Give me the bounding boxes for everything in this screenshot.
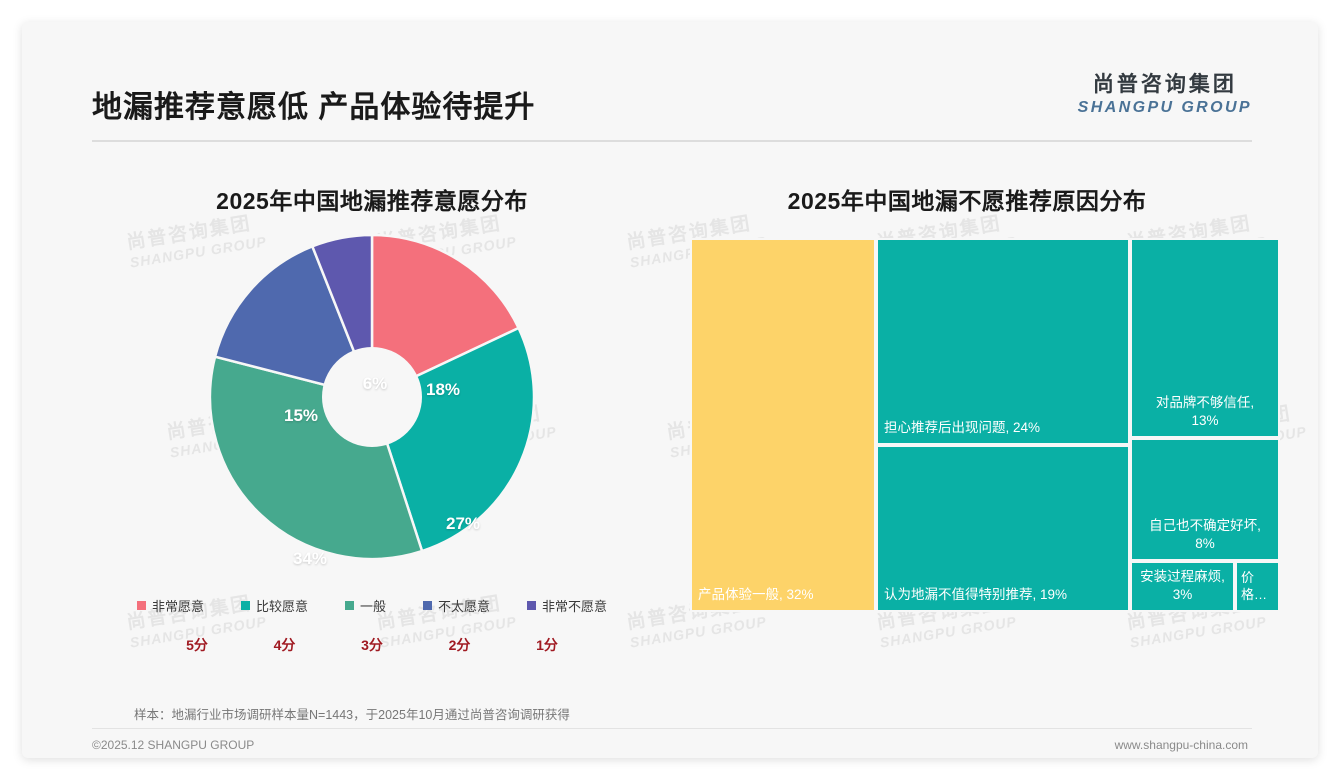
donut-chart: 18%27%34%15%6% [92,232,652,592]
legend-swatch [241,601,250,610]
logo-chinese: 尚普咨询集团 [1078,68,1252,98]
legend-swatch [137,601,146,610]
logo-english: SHANGPU GROUP [1078,99,1252,117]
treemap-cell[interactable]: 价格… [1235,561,1280,612]
treemap-cell-label: 价格… [1241,569,1275,604]
score-label: 5分 [167,635,227,655]
donut-center-hole [322,347,422,447]
legend-label: 非常愿意 [152,596,204,615]
treemap-chart-title: 2025年中国地漏不愿推荐原因分布 [682,182,1252,216]
legend-swatch [527,601,536,610]
treemap-cell[interactable]: 认为地漏不值得特别推荐, 19% [876,445,1130,612]
treemap-chart: 产品体验一般, 32%担心推荐后出现问题, 24%认为地漏不值得特别推荐, 19… [690,238,1280,612]
slide-header: 地漏推荐意愿低 产品体验待提升 尚普咨询集团 SHANGPU GROUP [92,60,1252,142]
legend-item[interactable]: 比较愿意 [241,596,308,615]
legend-label: 不太愿意 [438,596,490,615]
donut-chart-title: 2025年中国地漏推荐意愿分布 [92,182,652,216]
score-label: 4分 [255,635,315,655]
legend-label: 非常不愿意 [542,596,607,615]
legend-swatch [423,601,432,610]
legend-item[interactable]: 一般 [345,596,386,615]
footer-divider [92,728,1252,729]
donut-slice-value: 15% [284,406,318,426]
treemap-cell-label: 产品体验一般, 32% [698,586,870,604]
score-label-row: 5分4分3分2分1分 [167,635,577,655]
legend-swatch [345,601,354,610]
slide-canvas: 尚普咨询集团SHANGPU GROUP尚普咨询集团SHANGPU GROUP尚普… [22,22,1318,758]
treemap-chart-panel: 2025年中国地漏不愿推荐原因分布 产品体验一般, 32%担心推荐后出现问题, … [682,182,1252,612]
treemap-cell[interactable]: 自己也不确定好坏,8% [1130,438,1280,561]
treemap-cell[interactable]: 担心推荐后出现问题, 24% [876,238,1130,445]
footer-copyright: ©2025.12 SHANGPU GROUP [92,738,254,752]
treemap-cell-label: 认为地漏不值得特别推荐, 19% [884,586,1124,604]
donut-chart-panel: 2025年中国地漏推荐意愿分布 18%27%34%15%6% 非常愿意比较愿意一… [92,182,652,655]
sample-footnote: 样本：地漏行业市场调研样本量N=1443，于2025年10月通过尚普咨询调研获得 [134,704,570,723]
score-label: 2分 [430,635,490,655]
score-label: 1分 [517,635,577,655]
donut-slice-value: 6% [363,374,388,394]
brand-logo: 尚普咨询集团 SHANGPU GROUP [1078,68,1252,117]
treemap-cell-label: 自己也不确定好坏,8% [1136,517,1274,553]
legend-label: 一般 [360,596,386,615]
footer-website: www.shangpu-china.com [1115,738,1248,752]
score-label: 3分 [342,635,402,655]
legend-item[interactable]: 非常不愿意 [527,596,607,615]
treemap-cell[interactable]: 产品体验一般, 32% [690,238,876,612]
donut-slice-value: 27% [446,514,480,534]
page-title: 地漏推荐意愿低 产品体验待提升 [92,82,535,126]
donut-legend: 非常愿意比较愿意一般不太愿意非常不愿意 [137,596,607,615]
legend-item[interactable]: 非常愿意 [137,596,204,615]
donut-slice-value: 34% [293,549,327,569]
legend-label: 比较愿意 [256,596,308,615]
donut-svg [207,232,537,562]
treemap-cell-label: 对品牌不够信任,13% [1136,394,1274,430]
treemap-cell-label: 担心推荐后出现问题, 24% [884,419,1124,437]
treemap-cell-label: 安装过程麻烦,3% [1136,568,1229,604]
treemap-cell[interactable]: 对品牌不够信任,13% [1130,238,1280,438]
donut-slice-value: 18% [426,380,460,400]
legend-item[interactable]: 不太愿意 [423,596,490,615]
treemap-cell[interactable]: 安装过程麻烦,3% [1130,561,1235,612]
